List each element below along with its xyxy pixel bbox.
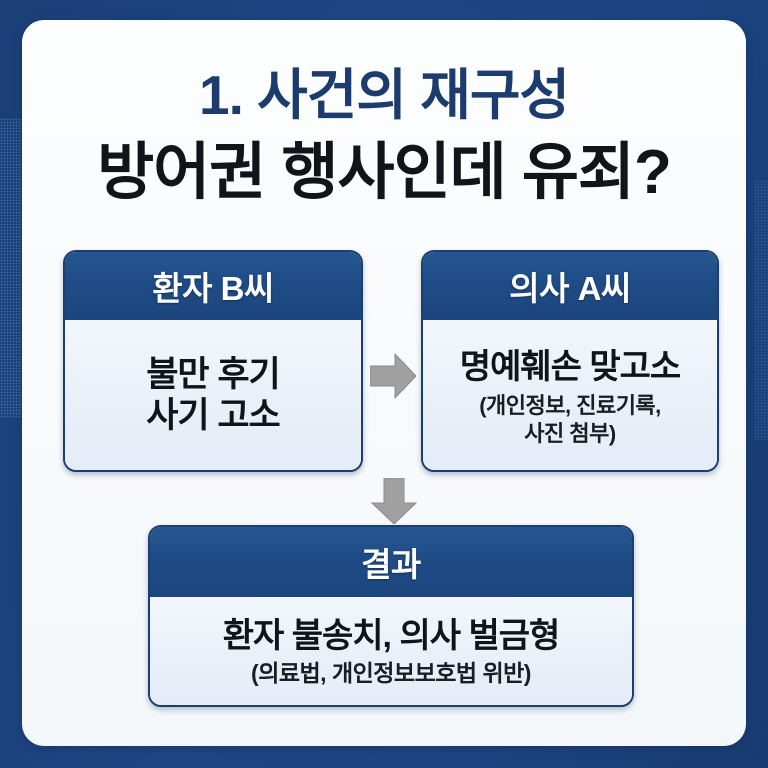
flow-box-doctor-body: 명예훼손 맞고소 (개인정보, 진료기록, 사진 첨부) bbox=[423, 320, 717, 470]
flow-box-doctor-sub-line-1: (개인정보, 진료기록, bbox=[479, 392, 661, 420]
page-title-line-2: 방어권 행사인데 유죄? bbox=[22, 142, 746, 204]
flow-box-doctor[interactable]: 의사 A씨 명예훼손 맞고소 (개인정보, 진료기록, 사진 첨부) bbox=[421, 250, 719, 472]
slide-background: 1. 사건의 재구성 방어권 행사인데 유죄? 환자 B씨 불만 후기 사기 고… bbox=[0, 0, 768, 768]
flow-box-doctor-sub-line-2: 사진 첨부) bbox=[524, 420, 615, 448]
arrow-down-icon bbox=[370, 478, 418, 524]
flow-box-doctor-header: 의사 A씨 bbox=[423, 252, 717, 320]
arrow-right-icon bbox=[370, 352, 416, 400]
content-card: 1. 사건의 재구성 방어권 행사인데 유죄? 환자 B씨 불만 후기 사기 고… bbox=[22, 20, 746, 746]
flow-box-result-header: 결과 bbox=[150, 527, 632, 597]
flow-box-result-body: 환자 불송치, 의사 벌금형 (의료법, 개인정보보호법 위반) bbox=[150, 597, 632, 705]
flow-box-result[interactable]: 결과 환자 불송치, 의사 벌금형 (의료법, 개인정보보호법 위반) bbox=[148, 525, 634, 707]
flow-box-result-main-text: 환자 불송치, 의사 벌금형 bbox=[223, 616, 560, 656]
flow-box-patient-line-2: 사기 고소 bbox=[146, 395, 280, 436]
flow-box-result-sub-text: (의료법, 개인정보보호법 위반) bbox=[251, 659, 531, 688]
flow-box-patient-header: 환자 B씨 bbox=[65, 252, 361, 320]
flow-box-patient[interactable]: 환자 B씨 불만 후기 사기 고소 bbox=[63, 250, 363, 472]
page-title-line-1: 1. 사건의 재구성 bbox=[22, 68, 746, 123]
flow-box-patient-body: 불만 후기 사기 고소 bbox=[65, 320, 361, 470]
flow-box-doctor-main-text: 명예훼손 맞고소 bbox=[460, 347, 680, 387]
flow-box-patient-line-1: 불만 후기 bbox=[146, 354, 280, 395]
